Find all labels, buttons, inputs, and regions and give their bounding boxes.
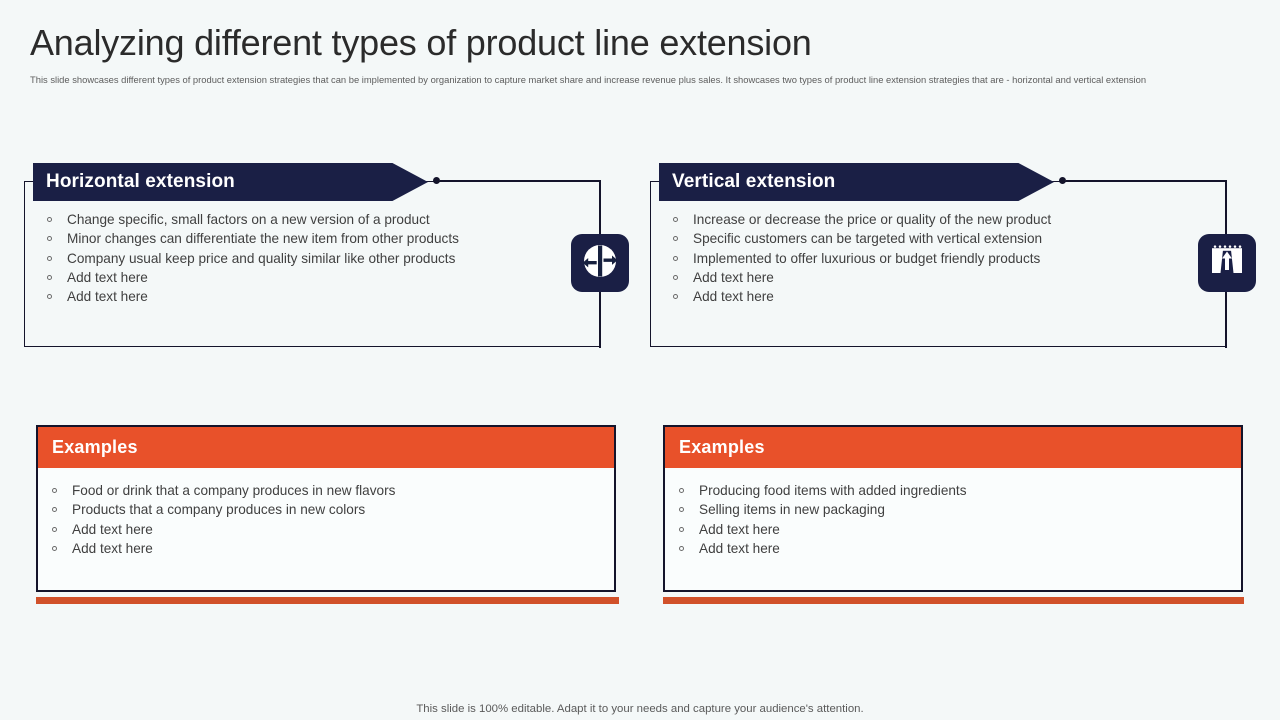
list-item: Implemented to offer luxurious or budget… bbox=[671, 249, 1051, 268]
bullet-circle-icon bbox=[673, 256, 678, 261]
list-item: Company usual keep price and quality sim… bbox=[45, 249, 459, 268]
examples-box-vertical: Examples Producing food items with added… bbox=[663, 425, 1243, 592]
list-item-label: Products that a company produces in new … bbox=[72, 502, 365, 517]
list-item: Add text here bbox=[50, 520, 395, 539]
bullet-circle-icon bbox=[52, 507, 57, 512]
list-item: Increase or decrease the price or qualit… bbox=[671, 210, 1051, 229]
list-item-label: Implemented to offer luxurious or budget… bbox=[693, 251, 1040, 266]
icon-badge-horizontal bbox=[571, 234, 629, 292]
bullet-circle-icon bbox=[47, 236, 52, 241]
connector-dot-horizontal bbox=[433, 177, 440, 184]
list-item-label: Add text here bbox=[67, 289, 148, 304]
bullet-circle-icon bbox=[47, 217, 52, 222]
examples-list-horizontal: Food or drink that a company produces in… bbox=[50, 481, 395, 558]
panel-banner-horizontal[interactable]: Horizontal extension bbox=[33, 163, 428, 201]
list-item-label: Change specific, small factors on a new … bbox=[67, 212, 430, 227]
examples-header-label: Examples bbox=[679, 437, 765, 458]
list-item: Producing food items with added ingredie… bbox=[677, 481, 967, 500]
panel-list-vertical: Increase or decrease the price or qualit… bbox=[671, 210, 1051, 306]
vertical-curtain-up-icon bbox=[1208, 242, 1246, 285]
list-item-label: Increase or decrease the price or qualit… bbox=[693, 212, 1051, 227]
horizontal-expand-icon bbox=[579, 240, 621, 287]
list-item-label: Add text here bbox=[693, 270, 774, 285]
examples-list-vertical: Producing food items with added ingredie… bbox=[677, 481, 967, 558]
examples-accent-bar-vertical bbox=[663, 597, 1244, 604]
list-item: Add text here bbox=[671, 287, 1051, 306]
list-item-label: Producing food items with added ingredie… bbox=[699, 483, 967, 498]
bullet-circle-icon bbox=[673, 217, 678, 222]
bullet-circle-icon bbox=[47, 256, 52, 261]
list-item: Add text here bbox=[50, 539, 395, 558]
bullet-circle-icon bbox=[673, 236, 678, 241]
list-item: Add text here bbox=[45, 287, 459, 306]
panel-banner-label-horizontal: Horizontal extension bbox=[46, 171, 235, 193]
list-item: Add text here bbox=[671, 268, 1051, 287]
bullet-circle-icon bbox=[679, 527, 684, 532]
bullet-circle-icon bbox=[52, 527, 57, 532]
list-item-label: Add text here bbox=[67, 270, 148, 285]
list-item-label: Add text here bbox=[72, 522, 153, 537]
examples-accent-bar-horizontal bbox=[36, 597, 619, 604]
connector-line-vertical bbox=[1066, 180, 1227, 182]
footer-note: This slide is 100% editable. Adapt it to… bbox=[0, 703, 1280, 715]
bullet-circle-icon bbox=[47, 294, 52, 299]
list-item-label: Add text here bbox=[699, 541, 780, 556]
bullet-circle-icon bbox=[673, 275, 678, 280]
list-item: Add text here bbox=[677, 539, 967, 558]
bullet-circle-icon bbox=[673, 294, 678, 299]
list-item-label: Company usual keep price and quality sim… bbox=[67, 251, 455, 266]
bullet-circle-icon bbox=[52, 488, 57, 493]
examples-header-vertical: Examples bbox=[665, 427, 1241, 468]
bullet-circle-icon bbox=[679, 507, 684, 512]
panel-list-horizontal: Change specific, small factors on a new … bbox=[45, 210, 459, 306]
bullet-circle-icon bbox=[47, 275, 52, 280]
list-item-label: Selling items in new packaging bbox=[699, 502, 885, 517]
list-item-label: Add text here bbox=[699, 522, 780, 537]
bullet-circle-icon bbox=[679, 546, 684, 551]
bullet-circle-icon bbox=[679, 488, 684, 493]
panel-banner-vertical[interactable]: Vertical extension bbox=[659, 163, 1054, 201]
connector-dot-vertical bbox=[1059, 177, 1066, 184]
list-item: Products that a company produces in new … bbox=[50, 500, 395, 519]
examples-box-horizontal: Examples Food or drink that a company pr… bbox=[36, 425, 616, 592]
list-item: Specific customers can be targeted with … bbox=[671, 229, 1051, 248]
list-item-label: Specific customers can be targeted with … bbox=[693, 231, 1042, 246]
page-subtitle: This slide showcases different types of … bbox=[30, 73, 1226, 86]
list-item: Add text here bbox=[45, 268, 459, 287]
list-item-label: Add text here bbox=[72, 541, 153, 556]
icon-badge-vertical bbox=[1198, 234, 1256, 292]
list-item: Change specific, small factors on a new … bbox=[45, 210, 459, 229]
list-item-label: Minor changes can differentiate the new … bbox=[67, 231, 459, 246]
list-item: Selling items in new packaging bbox=[677, 500, 967, 519]
bullet-circle-icon bbox=[52, 546, 57, 551]
examples-header-label: Examples bbox=[52, 437, 138, 458]
list-item: Minor changes can differentiate the new … bbox=[45, 229, 459, 248]
list-item: Food or drink that a company produces in… bbox=[50, 481, 395, 500]
panel-banner-label-vertical: Vertical extension bbox=[672, 171, 835, 193]
examples-header-horizontal: Examples bbox=[38, 427, 614, 468]
page-title: Analyzing different types of product lin… bbox=[30, 22, 812, 64]
connector-line-horizontal bbox=[440, 180, 601, 182]
list-item-label: Food or drink that a company produces in… bbox=[72, 483, 395, 498]
list-item-label: Add text here bbox=[693, 289, 774, 304]
list-item: Add text here bbox=[677, 520, 967, 539]
